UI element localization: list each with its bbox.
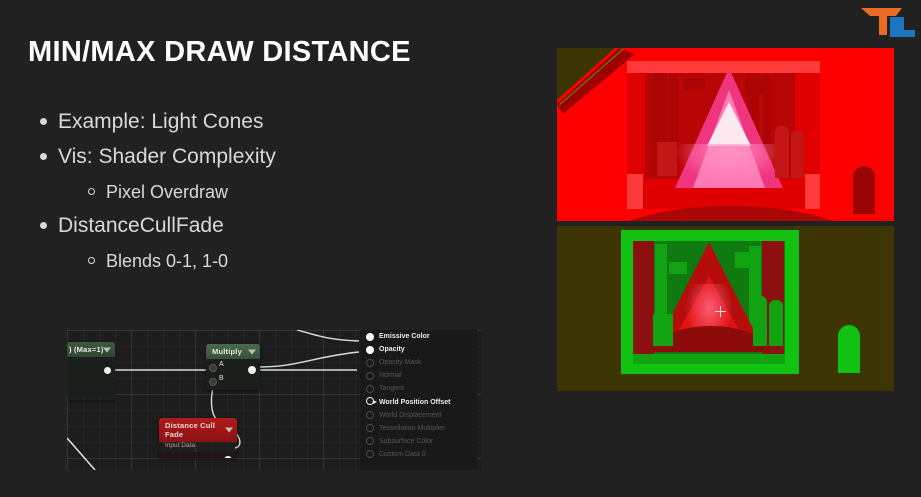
door-silhouette bbox=[838, 325, 860, 373]
material-editor-graph[interactable]: ) (Max=1) Multiply A B Distance Cull Fad… bbox=[67, 330, 481, 470]
page-title: MIN/MAX DRAW DISTANCE bbox=[28, 36, 411, 69]
hallway-left-post bbox=[627, 174, 643, 209]
hallway-sign bbox=[735, 252, 761, 268]
node-output-pin[interactable] bbox=[224, 456, 232, 458]
material-pin-label: Emissive Color bbox=[379, 333, 430, 340]
bullet-list: Example: Light Cones Vis: Shader Complex… bbox=[30, 108, 510, 281]
node-input-label-b: B bbox=[219, 375, 224, 382]
node-distance-cull-fade-subtitle: Input Data bbox=[159, 442, 237, 452]
chevron-down-icon[interactable] bbox=[248, 349, 256, 354]
pin-dot-icon[interactable] bbox=[366, 437, 374, 445]
material-pin-row[interactable]: Custom Data 0 bbox=[360, 448, 477, 461]
material-output-node[interactable]: Emissive Color Opacity Opacity Mask Norm… bbox=[360, 330, 477, 470]
viewport-corner-goldline bbox=[559, 49, 623, 105]
material-pin-row[interactable]: Normal bbox=[360, 369, 477, 382]
node-input-label-a: A bbox=[219, 361, 224, 368]
hallway-plant bbox=[657, 142, 677, 176]
material-pin-row[interactable]: Tessellation Multiplier bbox=[360, 422, 477, 435]
node-clamp-title: ) (Max=1) bbox=[67, 342, 115, 357]
bullet-marker-dot bbox=[30, 143, 58, 171]
bullet-marker-ring bbox=[78, 178, 106, 206]
node-distance-cull-fade-body bbox=[159, 452, 237, 458]
node-multiply[interactable]: Multiply A B bbox=[206, 344, 260, 390]
material-pin-label: Opacity Mask bbox=[379, 359, 421, 366]
material-pin-row[interactable]: Opacity bbox=[360, 343, 477, 356]
viewport-crosshair bbox=[715, 306, 726, 317]
pin-dot-icon[interactable] bbox=[366, 385, 374, 393]
node-distance-cull-fade-title: Distance Cull Fade bbox=[159, 418, 237, 442]
pin-dot-icon[interactable] bbox=[366, 359, 374, 367]
node-multiply-body: A B bbox=[206, 359, 260, 390]
chevron-down-icon[interactable] bbox=[225, 428, 233, 433]
hallway-top-beam bbox=[627, 61, 820, 73]
chevron-down-icon[interactable] bbox=[103, 347, 111, 352]
pin-dot-icon[interactable] bbox=[366, 372, 374, 380]
wire-offscreen bbox=[67, 438, 95, 470]
bullet-marker-ring bbox=[78, 247, 106, 275]
hallway-figure bbox=[791, 130, 804, 178]
pin-dot-icon[interactable] bbox=[366, 450, 374, 458]
bullet-marker-dot bbox=[30, 212, 58, 240]
material-pin-label: Tessellation Multiplier bbox=[379, 425, 446, 432]
node-distance-cull-fade[interactable]: Distance Cull Fade Input Data bbox=[159, 418, 237, 458]
node-clamp-body bbox=[67, 357, 115, 395]
pin-dot-icon[interactable] bbox=[366, 333, 374, 341]
bullet-text: DistanceCullFade bbox=[58, 212, 224, 240]
node-input-pin-b[interactable] bbox=[209, 378, 217, 386]
wire-multiply-to-opacity bbox=[260, 352, 359, 367]
node-input-pin-a[interactable] bbox=[209, 364, 217, 372]
material-pin-row[interactable]: Subsurface Color bbox=[360, 435, 477, 448]
material-pin-label: Normal bbox=[379, 372, 402, 379]
node-output-pin[interactable] bbox=[104, 367, 111, 374]
hallway-figure bbox=[753, 296, 767, 346]
material-pin-row[interactable]: World Displacement bbox=[360, 409, 477, 422]
material-pin-label: World Position Offset bbox=[379, 399, 450, 406]
viewport-shader-complexity-green bbox=[557, 226, 894, 391]
door-silhouette bbox=[853, 166, 875, 214]
pin-dot-icon[interactable] bbox=[366, 397, 374, 405]
material-pin-row[interactable]: Opacity Mask bbox=[360, 356, 477, 369]
hallway-sign bbox=[683, 78, 705, 90]
hallway-sign bbox=[669, 262, 687, 274]
hallway-figure bbox=[775, 126, 789, 178]
tl-logo-svg bbox=[858, 4, 918, 38]
tl-logo bbox=[858, 4, 918, 38]
material-pin-row[interactable]: Emissive Color bbox=[360, 330, 477, 343]
pin-dot-icon[interactable] bbox=[366, 346, 374, 354]
hallway-floor-edge bbox=[633, 354, 785, 364]
hallway-figure bbox=[769, 300, 783, 346]
bullet-text: Blends 0-1, 1-0 bbox=[106, 247, 228, 275]
list-item: Pixel Overdraw bbox=[78, 178, 510, 206]
hallway-right-post bbox=[805, 174, 820, 209]
list-item: DistanceCullFade bbox=[30, 212, 510, 240]
list-item: Example: Light Cones bbox=[30, 108, 510, 136]
node-multiply-title: Multiply bbox=[206, 344, 260, 359]
material-pin-row[interactable]: World Position Offset bbox=[360, 395, 477, 408]
material-pin-row[interactable]: Tangent bbox=[360, 382, 477, 395]
material-pin-label: Tangent bbox=[379, 385, 404, 392]
viewport-shader-complexity-red bbox=[557, 48, 894, 221]
bullet-text: Vis: Shader Complexity bbox=[58, 143, 276, 171]
hallway-column bbox=[633, 241, 654, 364]
material-pin-label: World Displacement bbox=[379, 412, 442, 419]
material-pin-label: Custom Data 0 bbox=[379, 451, 426, 458]
material-pin-label: Opacity bbox=[379, 346, 405, 353]
material-pin-label: Subsurface Color bbox=[379, 438, 433, 445]
bullet-text: Example: Light Cones bbox=[58, 108, 263, 136]
list-item: Blends 0-1, 1-0 bbox=[78, 247, 510, 275]
bullet-marker-dot bbox=[30, 108, 58, 136]
node-clamp[interactable]: ) (Max=1) bbox=[67, 342, 115, 400]
bullet-text: Pixel Overdraw bbox=[106, 178, 228, 206]
list-item: Vis: Shader Complexity bbox=[30, 143, 510, 171]
pin-dot-icon[interactable] bbox=[366, 424, 374, 432]
pin-dot-icon[interactable] bbox=[366, 411, 374, 419]
light-cone-floor-glow bbox=[675, 144, 785, 182]
node-output-pin[interactable] bbox=[248, 366, 256, 374]
slide-canvas: MIN/MAX DRAW DISTANCE Example: Light Con… bbox=[0, 0, 921, 497]
logo-letter-l bbox=[890, 17, 915, 37]
hallway-sign bbox=[745, 78, 771, 94]
hallway-plant bbox=[653, 314, 673, 346]
wire-top-to-emissive bbox=[297, 330, 359, 341]
